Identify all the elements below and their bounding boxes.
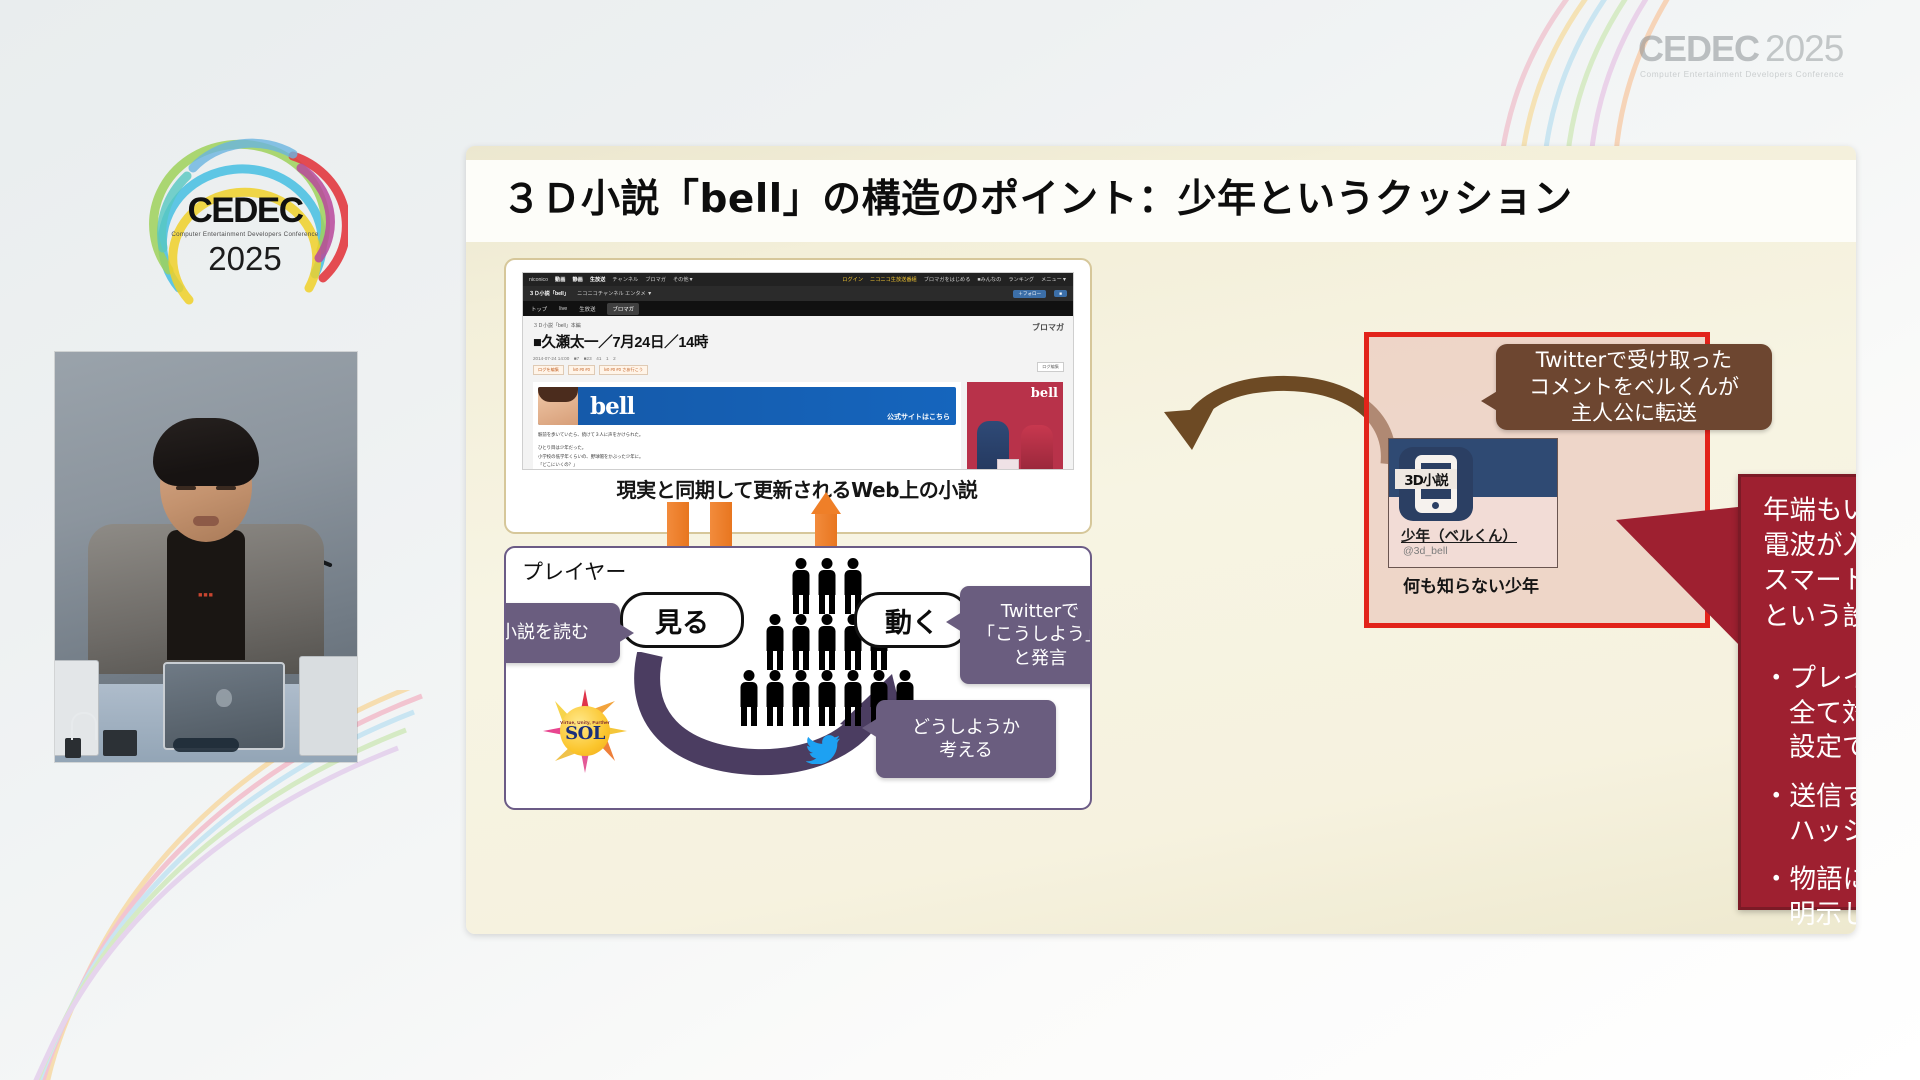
logo-year: 2025	[208, 242, 281, 275]
player-panel-label: プレイヤー	[522, 556, 626, 586]
sol-logo: Virtue, Unity, Further SOL	[542, 688, 628, 774]
speaker-shirt: ■■■	[167, 530, 245, 660]
article-paragraph: 駅前を歩いていたら、続けて３人に声をかけられた。 ひとり目は少年だった。 小学校…	[538, 431, 956, 470]
bullet-line: 全て対応できない理由を	[1763, 697, 1856, 732]
nav-item: niconico	[529, 277, 548, 283]
site-global-nav: niconico 動画 静画 生放送 チャンネル ブロマガ その他▼ ログイン …	[523, 273, 1073, 286]
callout-lead-line: 年端もいかない少年だけが、	[1763, 493, 1856, 528]
bubble-line: 主人公に転送	[1571, 400, 1697, 427]
nav-item: ランキング	[1008, 276, 1034, 283]
web-page-screenshot: niconico 動画 静画 生放送 チャンネル ブロマガ その他▼ ログイン …	[522, 272, 1074, 470]
bubble-line: どうしようか	[912, 716, 1020, 739]
bubble-think: どうしようか 考える	[876, 700, 1056, 778]
side-art-label: bell	[1031, 386, 1058, 401]
logo-name: CEDEC	[187, 193, 302, 228]
presentation-slide: ３Ｄ小説「bell」の構造のポイント：少年というクッション niconico 動…	[466, 146, 1856, 934]
node-watch: 見る	[620, 592, 744, 648]
nav-item: メニュー▼	[1041, 276, 1067, 283]
screen-root: CEDEC 2025 Computer Entertainment Develo…	[0, 0, 1920, 1080]
article-headline: ■久瀬太一／7月24日／14時	[533, 331, 1063, 352]
channel-tabs: トップ live 生放送 ブロマガ	[523, 301, 1073, 316]
bell-banner: bell 公式サイトはこちら	[538, 387, 956, 425]
nav-item: ブロマガ	[645, 276, 666, 283]
bubble-read-novel: 小説を読む	[504, 603, 620, 663]
channel-name: ３Ｄ小説「bell」	[529, 290, 569, 297]
bell-logo: bell	[590, 393, 634, 420]
power-adapter	[65, 738, 81, 758]
player-loop-panel: プレイヤー 見る 動く 小説を読む Twitterで 「こうしよう」 と発言 ど…	[504, 546, 1092, 810]
sol-name: SOL	[565, 725, 605, 743]
web-novel-panel: niconico 動画 静画 生放送 チャンネル ブロマガ その他▼ ログイン …	[504, 258, 1092, 534]
sol-core: Virtue, Unity, Further SOL	[560, 706, 610, 756]
channel-subscribe-button: ＋フォロー	[1013, 290, 1046, 298]
article-meta: 2014-07-24 14:00 ■7 ■23 41 1 2	[533, 356, 1063, 362]
speaker-video-feed: ■■■	[55, 352, 357, 762]
red-callout-box: 年端もいかない少年だけが、 電波が入ると主人公と連絡できる スマートフォンを持っ…	[1738, 474, 1856, 910]
tag-item[interactable]: lv0 #0 #0 さあ行こう	[599, 365, 648, 375]
article-body: ブロマガ ３Ｄ小説「bell」本編 ■久瀬太一／7月24日／14時 2014-0…	[523, 316, 1073, 470]
nav-item: チャンネル	[612, 276, 638, 283]
logo-subtitle: Computer Entertainment Developers Confer…	[171, 231, 318, 238]
nav-item: 生放送	[590, 276, 606, 283]
channel-meta: ニコニコチャンネル エンタメ ▼	[577, 290, 652, 297]
wordmark-name: CEDEC	[1638, 31, 1759, 67]
tab-live[interactable]: live	[559, 306, 567, 312]
bullet-line: 明示し、メリハリをつけられる	[1763, 898, 1856, 933]
bullet-line: プレイヤーの大量のコメントに	[1763, 662, 1856, 697]
callout-bullet: 物語に干渉できるタイミングを 明示し、メリハリをつけられる	[1763, 863, 1856, 932]
boy-card-caption: 何も知らない少年	[1366, 572, 1576, 597]
official-site-link[interactable]: 公式サイトはこちら	[887, 412, 950, 422]
bubble-line: 考える	[939, 739, 992, 762]
bell-relay-bubble: Twitterで受け取った コメントをベルくんが 主人公に転送	[1496, 344, 1772, 430]
nav-item: 静画	[572, 276, 582, 283]
wordmark-year: 2025	[1765, 30, 1843, 67]
profile-display-name: 少年（ベルくん）	[1401, 525, 1517, 546]
blomaga-badge: ブロマガ	[1032, 322, 1064, 333]
bullet-line: 物語に干渉できるタイミングを	[1763, 863, 1856, 898]
cedec-wordmark: CEDEC 2025 Computer Entertainment Develo…	[1638, 30, 1886, 90]
callout-bullet: 送信するメッセージを ハッシュタグ上で明示できる	[1763, 780, 1856, 849]
callout-bullet: プレイヤーの大量のコメントに 全て対応できない理由を 設定で受け止められる	[1763, 662, 1856, 766]
speaker-figure	[160, 430, 252, 542]
nav-item: 動画	[555, 276, 565, 283]
bubble-line: 「こうしよう」	[977, 623, 1092, 646]
app-icon-label: 3D小説	[1395, 469, 1457, 489]
eyeglasses-on-desk	[173, 738, 239, 752]
tab-broadcast[interactable]: 生放送	[579, 305, 595, 313]
callout-lead: 年端もいかない少年だけが、 電波が入ると主人公と連絡できる スマートフォンを持っ…	[1741, 477, 1856, 642]
bubble-line: コメントをベルくんが	[1529, 374, 1739, 401]
bubble-line: Twitterで	[1001, 600, 1079, 623]
article-main-column: bell 公式サイトはこちら 駅前を歩いていたら、続けて３人に声をかけられた。 …	[533, 382, 961, 470]
tab-blomaga[interactable]: ブロマガ	[607, 303, 639, 315]
nav-item-login: ログイン	[842, 276, 863, 283]
article-tags: ログを編集 lv0 #0 #0 lv0 #0 #0 さあ行こう	[533, 365, 1063, 375]
tag-item[interactable]: ログを編集	[533, 365, 564, 375]
body-line: ひとり目は少年だった。	[538, 444, 956, 452]
twitter-bird-icon	[806, 734, 842, 764]
body-line: と少年は言った。きっと初対面だと思う。	[538, 469, 956, 470]
laptop-right	[299, 656, 357, 756]
wordmark-subtitle: Computer Entertainment Developers Confer…	[1640, 69, 1886, 79]
bubble-line: Twitterで受け取った	[1536, 347, 1732, 374]
cedec-round-logo: CEDEC Computer Entertainment Developers …	[143, 138, 348, 328]
callout-lead-line: という設定は以下の効果がある。	[1763, 599, 1856, 634]
edit-log-button[interactable]: ログ編集	[1037, 362, 1064, 372]
callout-bullet-list: プレイヤーの大量のコメントに 全て対応できない理由を 設定で受け止められる 送信…	[1741, 642, 1856, 933]
boy-twitter-card: 3D小説 少年（ベルくん） @3d_bell	[1388, 438, 1558, 568]
cable-loop	[71, 712, 97, 740]
profile-handle: @3d_bell	[1403, 545, 1448, 557]
bubble-line: 小説を読む	[504, 621, 589, 644]
desk-device-box	[103, 730, 137, 756]
channel-share-button: ■	[1054, 290, 1067, 297]
channel-header: ３Ｄ小説「bell」 ニコニコチャンネル エンタメ ▼ ＋フォロー ■	[523, 286, 1073, 301]
body-line: 「どこにいくの？」	[538, 461, 956, 469]
laptop-center	[163, 662, 285, 750]
slide-title: ３Ｄ小説「bell」の構造のポイント：少年というクッション	[502, 168, 1573, 224]
apple-logo-icon	[216, 689, 232, 707]
brown-forward-arrow	[1156, 368, 1396, 498]
bubble-twitter-post: Twitterで 「こうしよう」 と発言	[960, 586, 1092, 684]
callout-lead-line: スマートフォンを持っている、	[1763, 563, 1856, 598]
character-portrait	[538, 387, 578, 425]
bullet-line: 設定で受け止められる	[1763, 731, 1856, 766]
article-side-artwork: bell	[967, 382, 1063, 470]
bubble-line: と発言	[1013, 647, 1067, 670]
bullet-line: 送信するメッセージを	[1763, 780, 1856, 815]
body-line: 小学校の低学年くらいの、野球帽をかぶった少年に。	[538, 453, 956, 461]
nav-item: その他▼	[673, 276, 694, 283]
callout-lead-line: 電波が入ると主人公と連絡できる	[1763, 528, 1856, 563]
body-line: 駅前を歩いていたら、続けて３人に声をかけられた。	[538, 431, 956, 439]
article-kicker: ３Ｄ小説「bell」本編	[533, 322, 1063, 329]
bullet-line: ハッシュタグ上で明示できる	[1763, 815, 1856, 850]
nav-item: ブロマガをはじめる	[924, 276, 971, 283]
tab-top[interactable]: トップ	[531, 305, 547, 313]
nav-item: ■みんなの	[977, 276, 1001, 283]
tag-item[interactable]: lv0 #0 #0	[568, 365, 595, 375]
web-panel-caption: 現実と同期して更新されるWeb上の小説	[522, 474, 1072, 503]
nav-item: ニコニコ生放送番組	[870, 276, 917, 283]
